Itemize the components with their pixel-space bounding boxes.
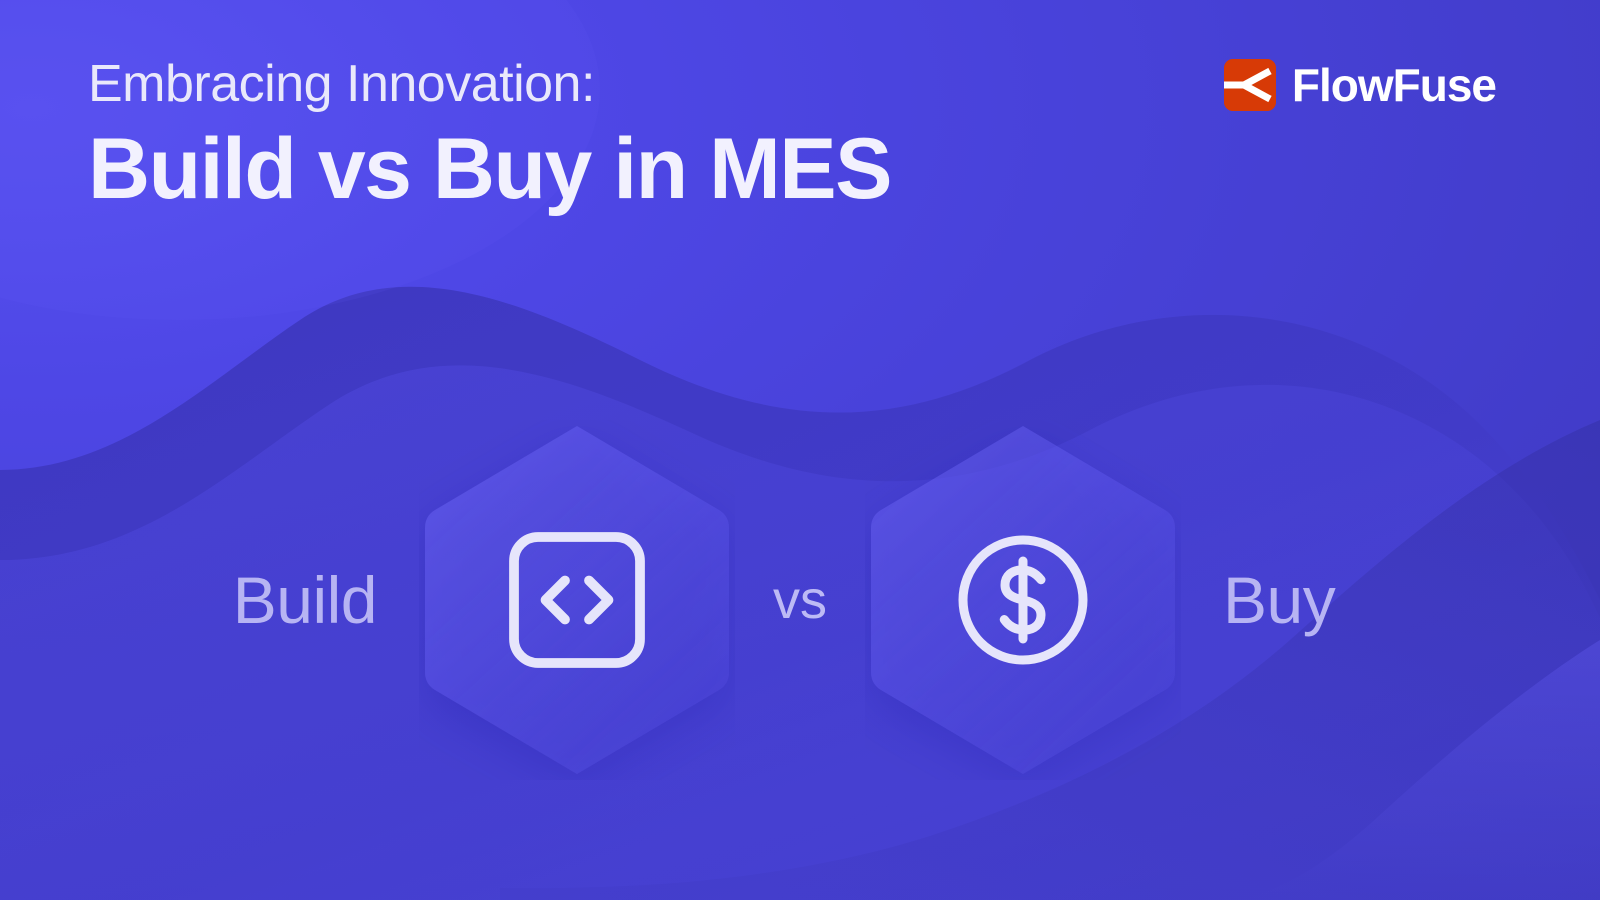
dollar-circle-icon	[948, 525, 1098, 675]
build-vs-buy-comparison: Build	[0, 420, 1600, 780]
buy-label: Buy	[1181, 567, 1401, 633]
hero-banner: Embracing Innovation: Build vs Buy in ME…	[0, 0, 1600, 900]
page-title: Build vs Buy in MES	[88, 124, 891, 215]
banner-header: Embracing Innovation: Build vs Buy in ME…	[0, 0, 1600, 270]
build-hexagon-tile[interactable]	[419, 420, 735, 780]
flowfuse-fork-icon	[1224, 59, 1276, 111]
buy-hexagon-tile[interactable]	[865, 420, 1181, 780]
code-brackets-icon	[502, 525, 652, 675]
flowfuse-wordmark: FlowFuse	[1292, 58, 1496, 112]
eyebrow-text: Embracing Innovation:	[88, 56, 891, 112]
vs-separator-label: vs	[735, 573, 865, 627]
flowfuse-logo[interactable]: FlowFuse	[1224, 58, 1496, 112]
build-label: Build	[199, 567, 419, 633]
title-block: Embracing Innovation: Build vs Buy in ME…	[88, 48, 891, 215]
